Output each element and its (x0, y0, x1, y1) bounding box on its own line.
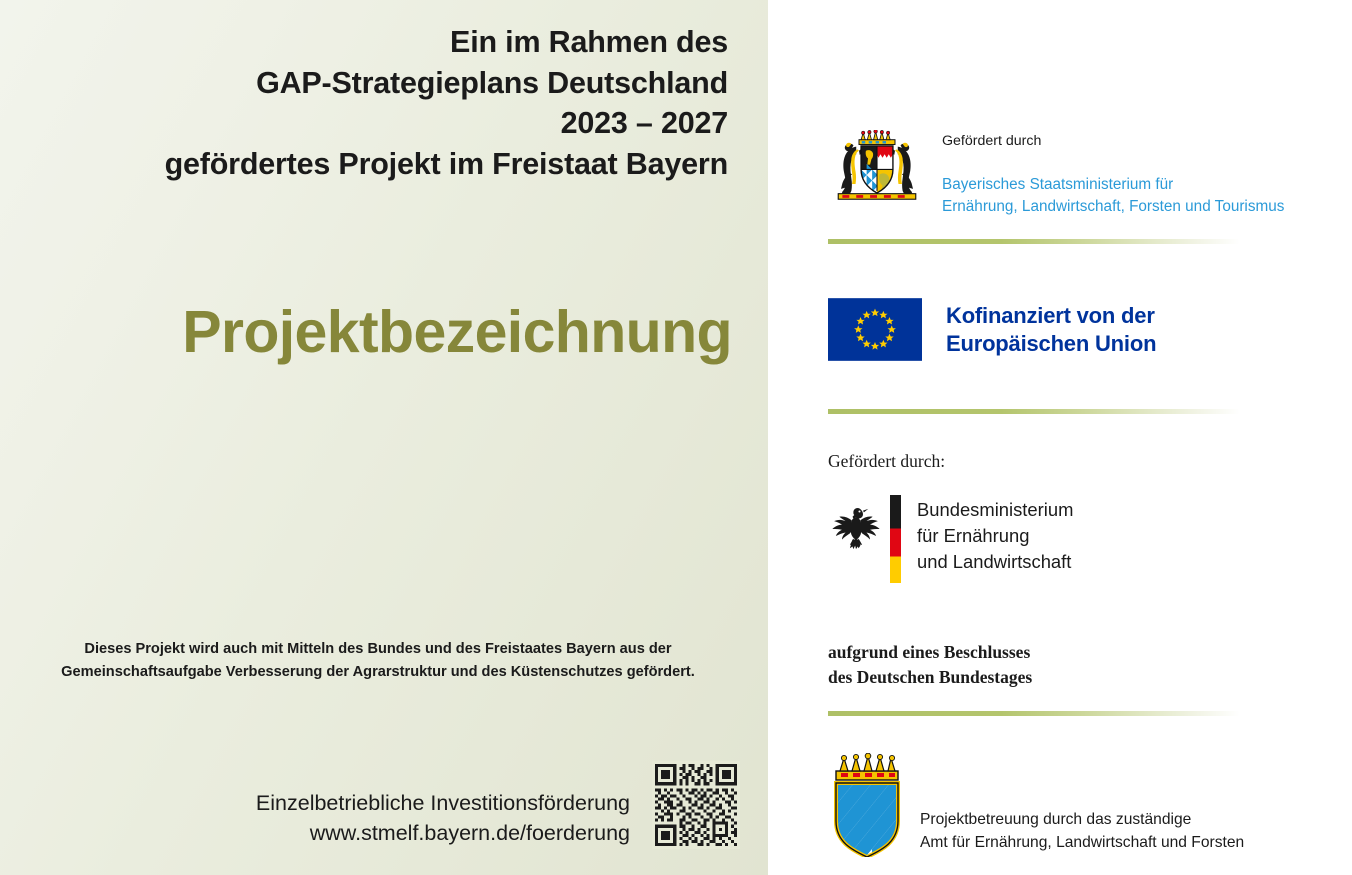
gak-note-line-1: Dieses Projekt wird auch mit Mitteln des… (24, 638, 732, 661)
european-union-flag-icon (828, 298, 922, 361)
eu-text-line-1: Kofinanziert von der (946, 302, 1156, 330)
gak-note-line-2: Gemeinschaftsaufgabe Verbesserung der Ag… (24, 661, 732, 684)
gak-funding-note: Dieses Projekt wird auch mit Mitteln des… (24, 638, 732, 683)
left-panel: Ein im Rahmen des GAP-Strategieplans Deu… (0, 0, 768, 875)
stmelf-funded-by-label: Gefördert durch (942, 132, 1284, 150)
heading-line-1: Ein im Rahmen des (28, 22, 728, 63)
bmel-name-line-1: Bundesministerium (917, 497, 1073, 523)
heading-line-4: gefördertes Projekt im Freistaat Bayern (28, 144, 728, 185)
bundesadler-icon (828, 501, 884, 557)
aelf-block: Projektbetreuung durch das zuständige Am… (828, 753, 1244, 857)
bmel-name-line-3: und Landwirtschaft (917, 549, 1073, 575)
bmel-name-line-2: für Ernährung (917, 523, 1073, 549)
bundestag-resolution-note: aufgrund eines Beschlusses des Deutschen… (828, 640, 1032, 690)
footer-website[interactable]: www.stmelf.bayern.de/foerderung (256, 818, 630, 849)
footer-program-text: Einzelbetriebliche Investitionsförderung… (256, 788, 630, 849)
bavarian-shield-icon (828, 753, 906, 857)
stmelf-block: Gefördert durch Bayerisches Staatsminist… (828, 130, 1284, 218)
divider-2 (828, 409, 1240, 414)
bavarian-coat-of-arms-icon (828, 130, 926, 202)
funding-heading: Ein im Rahmen des GAP-Strategieplans Deu… (28, 22, 728, 184)
divider-3 (828, 711, 1240, 716)
right-column: Gefördert durch Bayerisches Staatsminist… (768, 0, 1352, 875)
stmelf-name-line-1: Bayerisches Staatsministerium für (942, 174, 1284, 196)
funding-sign-poster: Ein im Rahmen des GAP-Strategieplans Deu… (0, 0, 1352, 875)
aelf-text: Projektbetreuung durch das zuständige Am… (920, 756, 1244, 854)
eu-block: Kofinanziert von der Europäischen Union (828, 298, 1156, 361)
project-title: Projektbezeichnung (0, 300, 732, 365)
aelf-line-1: Projektbetreuung durch das zuständige (920, 808, 1244, 831)
stmelf-text: Gefördert durch Bayerisches Staatsminist… (942, 130, 1284, 218)
divider-1 (828, 239, 1240, 244)
eu-text-line-2: Europäischen Union (946, 330, 1156, 358)
footer-line-1: Einzelbetriebliche Investitionsförderung (256, 788, 630, 819)
heading-line-2: GAP-Strategieplans Deutschland (28, 63, 728, 104)
heading-line-3: 2023 – 2027 (28, 103, 728, 144)
bundestag-line-2: des Deutschen Bundestages (828, 665, 1032, 690)
eu-cofunding-text: Kofinanziert von der Europäischen Union (946, 302, 1156, 357)
stmelf-ministry-name: Bayerisches Staatsministerium für Ernähr… (942, 174, 1284, 217)
bundestag-line-1: aufgrund eines Beschlusses (828, 640, 1032, 665)
left-footer: Einzelbetriebliche Investitionsförderung… (30, 761, 740, 849)
bmel-ministry-name: Bundesministerium für Ernährung und Land… (917, 495, 1073, 575)
german-flag-bar-icon (890, 495, 901, 583)
qr-code-icon[interactable] (652, 761, 740, 849)
stmelf-name-line-2: Ernährung, Landwirtschaft, Forsten und T… (942, 196, 1284, 218)
bmel-funded-by-label: Gefördert durch: (828, 450, 945, 473)
aelf-line-2: Amt für Ernährung, Landwirtschaft und Fo… (920, 831, 1244, 854)
bmel-block: Bundesministerium für Ernährung und Land… (828, 495, 1073, 583)
